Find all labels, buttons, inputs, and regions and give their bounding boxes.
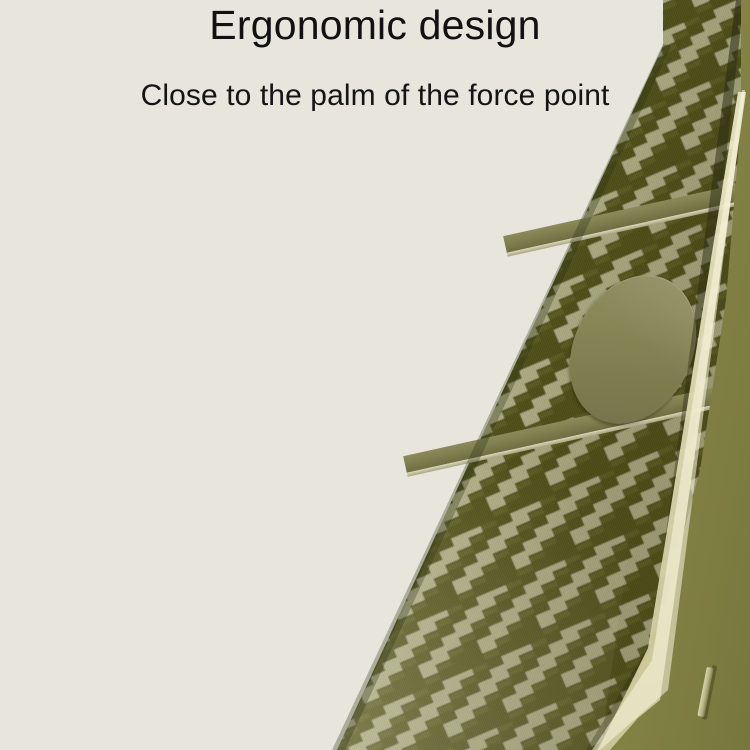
product-photo-canvas: Ergonomic design Close to the palm of th…	[0, 0, 750, 750]
page-subtitle: Close to the palm of the force point	[0, 79, 750, 113]
page-title: Ergonomic design	[0, 2, 750, 49]
